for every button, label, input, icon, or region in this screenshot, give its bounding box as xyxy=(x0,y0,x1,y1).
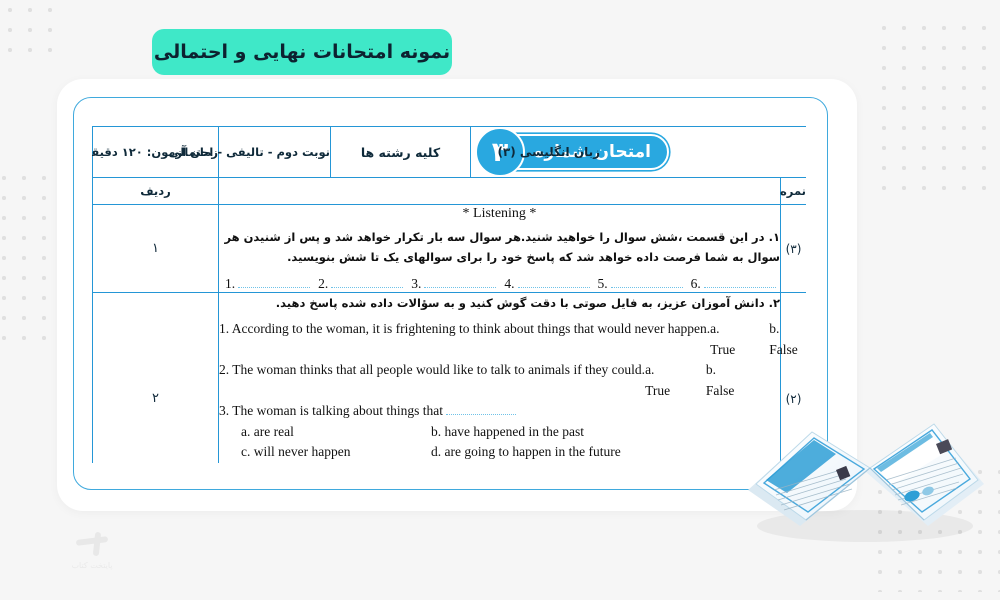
choice[interactable]: a. True xyxy=(645,360,672,401)
background-dot-pattern-top-right xyxy=(874,18,1000,198)
blank-line[interactable] xyxy=(518,276,590,288)
choice[interactable]: d. are going to happen in the future xyxy=(431,442,621,463)
row-1-score: (۳) xyxy=(781,205,807,293)
logo-icon xyxy=(74,528,110,558)
list-item[interactable]: 3. xyxy=(411,276,496,292)
row-2-instruction: ۲. دانش آموزان عزیز، به فایل صوتی با دقت… xyxy=(219,293,780,313)
row-column-header-cell: ردیف xyxy=(93,178,219,205)
exam-subject-label: زبان انگلیسی (۳) xyxy=(497,145,600,159)
list-item[interactable]: 2. xyxy=(318,276,403,292)
row-2-number: ۲ xyxy=(93,293,219,463)
question-3-choices-row-1: a. are real b. have happened in the past xyxy=(219,422,780,443)
list-item[interactable]: 1. xyxy=(225,276,310,292)
list-item[interactable]: 5. xyxy=(598,276,683,292)
list-item: 1. According to the woman, it is frighte… xyxy=(219,319,780,360)
table-row: (۳) * Listening * ۱. در این قسمت ،شش سوا… xyxy=(93,205,807,293)
list-item: 3. The woman is talking about things tha… xyxy=(219,401,780,422)
exam-table: ۳ امتحان شماره زبان انگلیسی (۳) کلیه رشت… xyxy=(92,126,806,463)
question-list: 1. According to the woman, it is frighte… xyxy=(219,319,780,463)
exam-title-cell: ۳ امتحان شماره زبان انگلیسی (۳) xyxy=(471,127,807,178)
exam-duration-label: زمان آزمون: ۱۲۰ دقیقه xyxy=(93,145,218,159)
choice[interactable]: a. True xyxy=(710,319,735,360)
list-item[interactable]: 4. xyxy=(504,276,589,292)
blank-number: 4. xyxy=(504,276,514,292)
exam-fields-cell: کلیه رشته ها xyxy=(331,127,471,178)
row-1-content: * Listening * ۱. در این قسمت ،شش سوال را… xyxy=(219,205,781,293)
exam-sheet: ۳ امتحان شماره زبان انگلیسی (۳) کلیه رشت… xyxy=(92,126,806,463)
row-2-content: ۲. دانش آموزان عزیز، به فایل صوتی با دقت… xyxy=(219,293,781,463)
content-column-header-cell xyxy=(219,178,781,205)
promo-banner: نمونه امتحانات نهایی و احتمالی xyxy=(152,29,452,75)
background-dot-pattern-top-left xyxy=(0,0,60,60)
column-header-row: نمره ردیف xyxy=(93,178,807,205)
answer-blanks-list: 1. 2. 3. 4. xyxy=(219,276,780,292)
blank-number: 3. xyxy=(411,276,421,292)
row-1-number: ۱ xyxy=(93,205,219,293)
question-3-choices-row-2: c. will never happen d. are going to hap… xyxy=(219,442,780,463)
choice[interactable]: a. are real xyxy=(241,422,431,443)
page-root: نمونه امتحانات نهایی و احتمالی ۳ امتحان … xyxy=(0,0,1000,600)
exam-duration-cell: زمان آزمون: ۱۲۰ دقیقه xyxy=(93,127,219,178)
open-book-illustration xyxy=(740,398,990,548)
question-3-text: 3. The woman is talking about things tha… xyxy=(219,403,443,418)
exam-term-label: نوبت دوم - تالیفی - احتمالی xyxy=(219,145,330,159)
blank-number: 1. xyxy=(225,276,235,292)
blank-number: 6. xyxy=(691,276,701,292)
question-2-choices: a. True b. False xyxy=(645,360,780,401)
open-book-image xyxy=(740,398,990,548)
row-column-label: ردیف xyxy=(93,184,218,198)
blank-line[interactable] xyxy=(238,276,310,288)
exam-fields-label: کلیه رشته ها xyxy=(331,145,470,160)
question-1-text: 1. According to the woman, it is frighte… xyxy=(219,319,710,340)
score-column-header-cell: نمره xyxy=(781,178,807,205)
blank-line[interactable] xyxy=(424,276,496,288)
watermark-label: پایتخت کتاب xyxy=(71,561,112,570)
question-1-choices: a. True b. False xyxy=(710,319,806,360)
exam-term-cell: نوبت دوم - تالیفی - احتمالی xyxy=(219,127,331,178)
choice[interactable]: b. have happened in the past xyxy=(431,422,584,443)
table-row: (۲) ۲. دانش آموزان عزیز، به فایل صوتی با… xyxy=(93,293,807,463)
blank-number: 5. xyxy=(598,276,608,292)
list-item: 2. The woman thinks that all people woul… xyxy=(219,360,780,401)
choice[interactable]: b. False xyxy=(706,360,736,401)
watermark-logo: پایتخت کتاب xyxy=(52,520,132,578)
exam-header-row: ۳ امتحان شماره زبان انگلیسی (۳) کلیه رشت… xyxy=(93,127,807,178)
blank-number: 2. xyxy=(318,276,328,292)
choice[interactable]: b. False xyxy=(769,319,798,360)
blank-line[interactable] xyxy=(704,276,776,288)
score-column-label: نمره xyxy=(781,184,806,198)
blank-line[interactable] xyxy=(611,276,683,288)
row-1-instruction: ۱. در این قسمت ،شش سوال را خواهید شنید.ه… xyxy=(219,227,780,267)
blank-line[interactable] xyxy=(331,276,403,288)
blank-line[interactable] xyxy=(446,404,516,415)
listening-section-title: * Listening * xyxy=(219,206,780,222)
choice[interactable]: c. will never happen xyxy=(241,442,431,463)
question-2-text: 2. The woman thinks that all people woul… xyxy=(219,360,645,381)
promo-banner-label: نمونه امتحانات نهایی و احتمالی xyxy=(154,41,450,63)
list-item[interactable]: 6. xyxy=(691,276,776,292)
